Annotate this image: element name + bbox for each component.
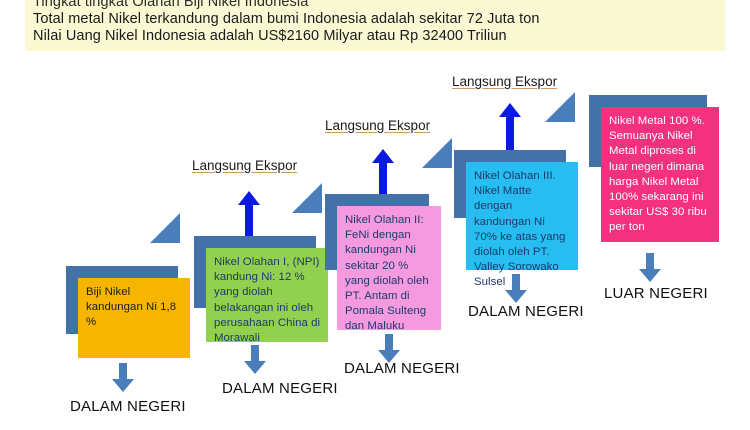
down-arrow-1	[110, 363, 136, 398]
bottom-label-1: DALAM NEGERI	[70, 398, 186, 415]
stage-card-3[interactable]: Nikel Olahan II: FeNi dengan kandungan N…	[337, 206, 441, 330]
header-banner: Tingkat tingkat Olahan Biji Nikel Indone…	[25, 0, 725, 51]
down-arrow-5	[637, 253, 663, 288]
bottom-label-2: DALAM NEGERI	[222, 380, 338, 397]
bottom-label-5: LUAR NEGERI	[604, 285, 708, 302]
stage-card-1[interactable]: Biji Nikel kandungan Ni 1,8 %	[78, 278, 190, 358]
stage-card-4[interactable]: Nikel Olahan III. Nikel Matte dengan kan…	[466, 162, 578, 270]
banner-line-1: Tingkat tingkat Olahan Biji Nikel Indone…	[33, 0, 717, 11]
stage-card-5[interactable]: Nikel Metal 100 %. Semuanya Nikel Metal …	[601, 107, 719, 242]
top-label-2: Langsung Ekspor	[192, 158, 297, 173]
stage-card-2[interactable]: Nikel Olahan I, (NPI) kandung Ni: 12 % y…	[206, 248, 328, 342]
bottom-label-4: DALAM NEGERI	[468, 303, 584, 320]
slide-canvas: Tingkat tingkat Olahan Biji Nikel Indone…	[0, 0, 750, 430]
bottom-label-3: DALAM NEGERI	[344, 360, 460, 377]
down-arrow-2	[242, 345, 268, 380]
banner-line-3: Nilai Uang Nikel Indonesia adalah US$216…	[33, 28, 717, 45]
banner-line-2: Total metal Nikel terkandung dalam bumi …	[33, 11, 717, 28]
top-label-4: Langsung Ekspor	[452, 74, 557, 89]
top-label-3: Langsung Ekspor	[325, 118, 430, 133]
